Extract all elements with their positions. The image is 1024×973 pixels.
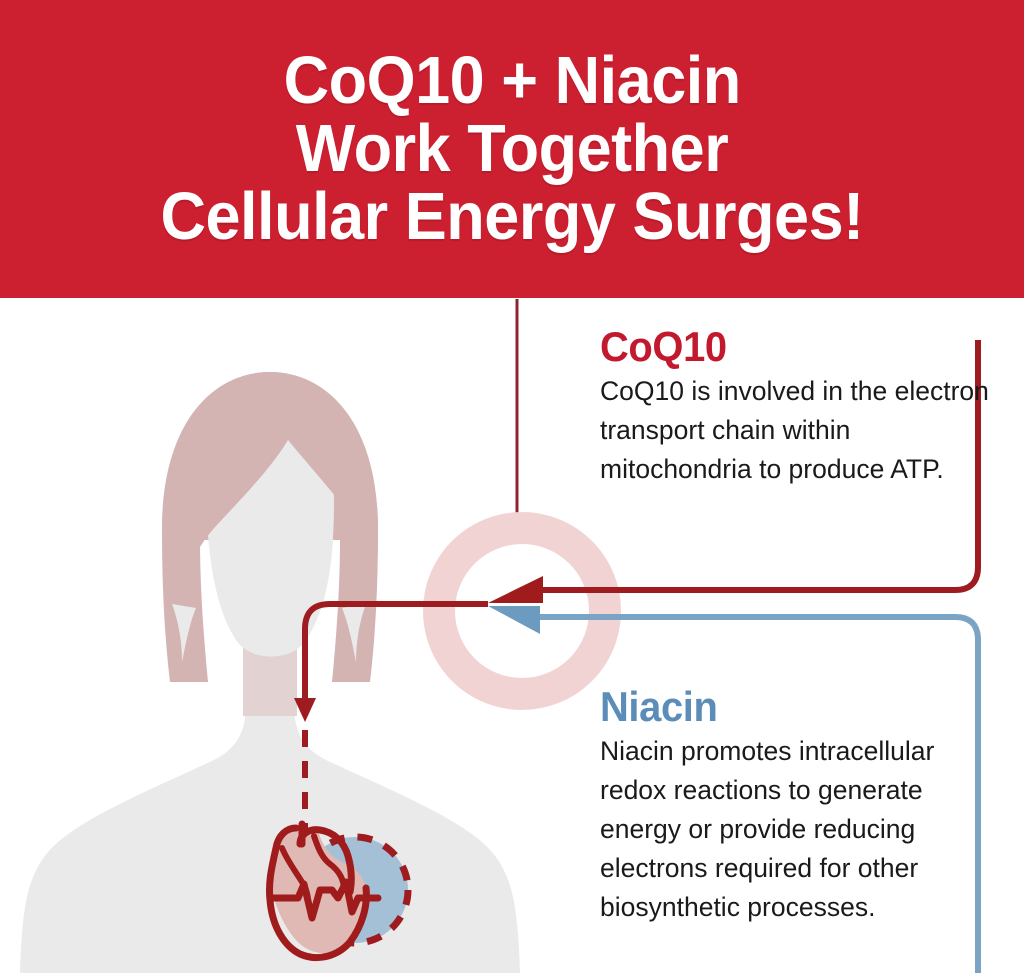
niacin-info-block: Niacin Niacin promotes intracellular red… bbox=[600, 686, 990, 927]
headline-line-2: Work Together bbox=[296, 115, 728, 183]
niacin-description: Niacin promotes intracellular redox reac… bbox=[600, 732, 990, 927]
coq10-description: CoQ10 is involved in the electron transp… bbox=[600, 372, 990, 489]
coq10-info-block: CoQ10 CoQ10 is involved in the electron … bbox=[600, 326, 990, 489]
content-stage: CoQ10 CoQ10 is involved in the electron … bbox=[0, 298, 1024, 973]
niacin-title: Niacin bbox=[600, 686, 971, 728]
coq10-title: CoQ10 bbox=[600, 326, 971, 368]
infographic-page: CoQ10 + Niacin Work Together Cellular En… bbox=[0, 0, 1024, 973]
headline-line-3: Cellular Energy Surges! bbox=[160, 183, 863, 251]
header-banner: CoQ10 + Niacin Work Together Cellular En… bbox=[0, 0, 1024, 298]
headline-line-1: CoQ10 + Niacin bbox=[283, 47, 740, 115]
